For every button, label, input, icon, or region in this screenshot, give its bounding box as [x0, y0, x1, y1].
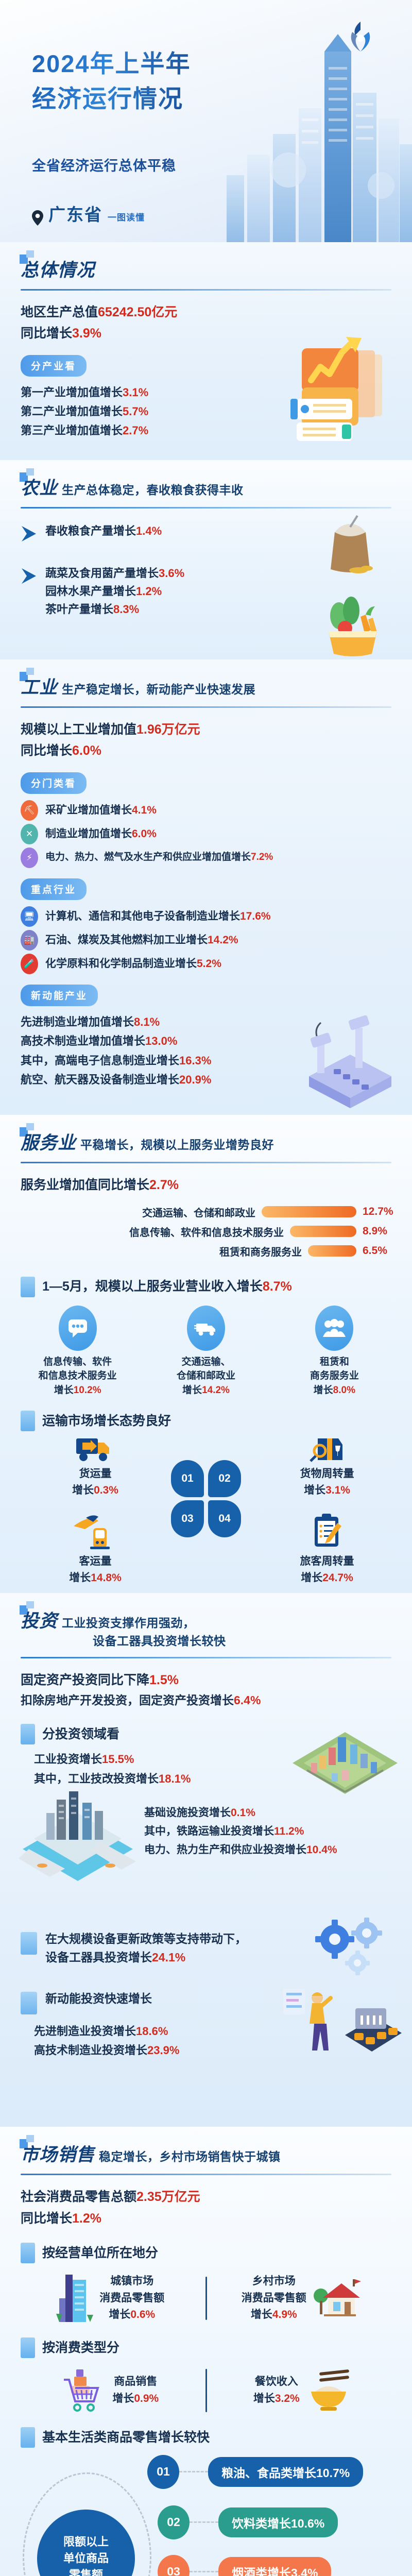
transport-quad: 货运量增长0.3% 货物周转量增长3.1% 01 02 03 04	[0, 1433, 412, 1588]
section-title-retail: 市场销售	[21, 2140, 95, 2166]
clipboard-icon	[307, 1513, 347, 1551]
investment-ex-realestate: 扣除房地产开发投资，固定资产投资增长6.4%	[21, 1691, 391, 1710]
split-title: 城镇市场	[110, 2275, 153, 2287]
statistics-bureau-logo-icon	[346, 21, 375, 53]
section-agriculture: 农业 生产总体稳定，春收粮食获得丰收 春收粮食产量增长1.4%	[0, 460, 412, 660]
delivery-truck-icon	[187, 1306, 225, 1351]
dash-connector	[190, 2571, 218, 2572]
split-item-catering: 餐饮收入 增长3.2%	[207, 2368, 397, 2413]
robot-arm-assembly-icon	[288, 1014, 397, 1112]
flow-badge: 01	[147, 2455, 179, 2489]
bar-value: 6.5%	[363, 1245, 397, 1257]
section-services: 服务业 平稳增长，规模以上服务业增势良好 服务业增加值同比增长2.7% 交通运输…	[0, 1115, 412, 1593]
section-title-overall: 总体情况	[21, 256, 95, 282]
overall-gdp-value: 65242.50亿元	[98, 305, 177, 319]
services-subhead: 1—5月，规模以上服务业营业收入增长8.7%	[0, 1263, 412, 1297]
split-item-rural: 乡村市场 消费品零售额 增长4.9%	[207, 2273, 397, 2324]
lightning-bolt-icon: ⚡	[21, 848, 38, 868]
quad-item-04: 旅客周转量增长24.7%	[263, 1513, 391, 1586]
split-item-urban: 城镇市场 消费品零售额 增长0.6%	[15, 2273, 205, 2324]
flow-caption: 烟酒类增长3.4%	[218, 2557, 331, 2576]
section-subtitle-investment-l1: 工业投资支撑作用强劲，	[62, 1616, 195, 1630]
flow-caption: 饮料类增长10.6%	[218, 2507, 338, 2537]
services-trio: 信息传输、软件和信息技术服务业增长10.2% 交通运输、仓储和邮政业增长14.2…	[0, 1297, 412, 1398]
dash-connector	[179, 2471, 208, 2472]
beaker-icon: 🧪	[21, 954, 38, 974]
section-retail: 市场销售 稳定增长，乡村市场销售快于城镇 社会消费品零售总额2.35万亿元 同比…	[0, 2127, 412, 2576]
chip-marker-icon	[21, 2337, 35, 2358]
list-item: ⛏ 采矿业增加值增长4.1%	[0, 797, 412, 821]
transport-head: 运输市场增长态势良好	[0, 1397, 412, 1431]
growth-chart-folder-icon	[288, 327, 391, 445]
petal-02: 02	[208, 1460, 241, 1497]
retail-location-head: 按经营单位所在地分	[0, 2229, 412, 2263]
split-title: 餐饮收入	[255, 2376, 298, 2387]
retail-by-location: 城镇市场 消费品零售额 增长0.6% 乡村市场 消费品零售额 增长4.9%	[0, 2263, 412, 2324]
chevron-right-icon	[21, 525, 38, 543]
retail-type-head: 按消费类型分	[0, 2324, 412, 2358]
bar-value: 12.7%	[363, 1206, 397, 1218]
flow-caption: 粮油、食品类增长10.7%	[208, 2457, 363, 2487]
chip-marker-icon	[21, 1277, 35, 1297]
chip-marker-icon	[21, 1992, 37, 2014]
trio-item: 信息传输、软件和信息技术服务业增长10.2%	[13, 1306, 142, 1398]
plane-train-icon	[71, 1513, 120, 1551]
industry-key-list: 🖥 计算机、通信和其他电子设备制造业增长17.6% 🏭 石油、煤炭及其他燃料加工…	[0, 903, 412, 974]
village-house-icon	[313, 2275, 362, 2321]
list-item: 其中，铁路运输业投资增长11.2%	[144, 1822, 391, 1841]
section-title-industry: 工业	[21, 673, 58, 699]
chip-marker-icon	[21, 2427, 35, 2448]
split-title: 乡村市场	[252, 2275, 296, 2287]
overall-growth-value: 3.9%	[72, 326, 101, 341]
quad-value: 0.3%	[94, 1484, 118, 1496]
retail-headline: 社会消费品零售总额2.35万亿元	[21, 2187, 391, 2208]
list-item: 蔬菜及食用菌产量增长3.6%	[45, 564, 184, 582]
trio-value: 14.2%	[202, 1385, 230, 1396]
excavator-icon: ⛏	[21, 800, 38, 821]
pill-by-category: 分门类看	[21, 772, 87, 794]
quad-value: 3.1%	[325, 1484, 350, 1496]
monitor-icon: 🖥	[21, 906, 38, 927]
petal-04: 04	[208, 1500, 241, 1537]
section-title-services: 服务业	[21, 1128, 76, 1155]
overall-gdp-line: 地区生产总值65242.50亿元	[21, 302, 391, 323]
bar-label: 交通运输、仓储和邮政业	[142, 1205, 255, 1219]
chart-bar-row: 信息传输、软件和信息技术服务业 8.9%	[15, 1224, 397, 1239]
page-title: 2024年上半年 经济运行情况	[32, 46, 191, 116]
section-subtitle-agriculture: 生产总体稳定，春收粮食获得丰收	[62, 481, 244, 499]
city-skyline-illustration	[196, 15, 412, 242]
refinery-icon: 🏭	[21, 930, 38, 951]
hero-banner: 2024年上半年 经济运行情况 全省经济运行总体平稳 广东省 一图读懂	[0, 0, 412, 242]
flow-item-02: 02 饮料类增长10.6%	[158, 2505, 338, 2539]
investment-fixed: 固定资产投资同比下降1.5%	[21, 1670, 391, 1691]
split-value: 4.9%	[272, 2309, 297, 2320]
bar-fill	[262, 1206, 356, 1217]
industry-category-list: ⛏ 采矿业增加值增长4.1% ✕ 制造业增加值增长6.0% ⚡ 电力、热力、燃气…	[0, 797, 412, 868]
services-bar-chart: 交通运输、仓储和邮政业 12.7% 信息传输、软件和信息技术服务业 8.9% 租…	[0, 1196, 412, 1259]
list-item: 茶叶产量增长8.3%	[45, 600, 184, 618]
bar-fill	[290, 1226, 356, 1237]
chart-bar-row: 租赁和商务服务业 6.5%	[15, 1244, 397, 1259]
city-building-icon	[56, 2273, 93, 2324]
petal-01: 01	[171, 1460, 204, 1497]
split-item-goods: 商品销售 增长0.9%	[15, 2367, 205, 2414]
trio-item: 租赁和商务服务业增长8.0%	[270, 1306, 399, 1398]
page-title-line2: 经济运行情况	[32, 81, 191, 116]
flow-item-01: 01 粮油、食品类增长10.7%	[147, 2455, 363, 2489]
parcel-box-icon	[306, 1433, 348, 1463]
split-value: 3.2%	[275, 2393, 300, 2404]
section-overall: 总体情况 地区生产总值65242.50亿元 同比增长3.9% 分产业看 第一产业…	[0, 242, 412, 460]
chart-bar-row: 交通运输、仓储和邮政业 12.7%	[15, 1205, 397, 1219]
grain-sack-icon	[319, 512, 381, 579]
list-item: 春收粮食产量增长1.4%	[45, 522, 162, 540]
quad-value: 14.8%	[91, 1572, 122, 1584]
split-value: 0.9%	[134, 2393, 159, 2404]
split-value: 0.6%	[130, 2309, 155, 2320]
dash-connector	[190, 2521, 218, 2523]
bar-value: 8.9%	[363, 1225, 397, 1238]
pill-key-industries: 重点行业	[21, 878, 87, 900]
bar-label: 信息传输、软件和信息技术服务业	[129, 1224, 284, 1239]
chip-marker-icon	[21, 1932, 37, 1955]
split-title: 商品销售	[114, 2376, 157, 2387]
overall-growth-label: 同比增长	[21, 326, 72, 341]
section-investment: 投资 工业投资支撑作用强劲， 设备工器具投资增长较快 固定资产投资同比下降1.5…	[0, 1593, 412, 2127]
bar-fill	[308, 1245, 356, 1257]
trio-item: 交通运输、仓储和邮政业增长14.2%	[142, 1306, 270, 1398]
retail-basic-flow: 限额以上单位商品零售额 01 粮油、食品类增长10.7% 02 饮料类增长10.…	[0, 2448, 412, 2576]
list-item: 🖥 计算机、通信和其他电子设备制造业增长17.6%	[0, 903, 412, 927]
section-subtitle-retail: 稳定增长，乡村市场销售快于城镇	[99, 2148, 281, 2166]
location-pin-icon	[32, 210, 43, 226]
page-subtitle: 全省经济运行总体平稳	[32, 155, 176, 175]
chip-marker-icon	[21, 2243, 35, 2263]
list-item: 🧪 化学原料和化学制品制造业增长5.2%	[0, 951, 412, 974]
isometric-skyline-icon	[19, 1788, 137, 1886]
infographic-page: 2024年上半年 经济运行情况 全省经济运行总体平稳 广东省 一图读懂 总体情况…	[0, 0, 412, 2576]
list-item: ✕ 制造业增加值增长6.0%	[0, 821, 412, 844]
chat-bubble-icon	[59, 1306, 97, 1351]
list-item: 基础设施投资增长0.1%	[144, 1804, 391, 1822]
tagline: 一图读懂	[108, 210, 145, 226]
trio-value: 10.2%	[74, 1385, 101, 1396]
retail-by-type: 商品销售 增长0.9% 餐饮收入 增长3.2%	[0, 2358, 412, 2414]
section-subtitle-industry: 生产稳定增长，新动能产业快速发展	[62, 681, 255, 699]
overall-gdp-label: 地区生产总值	[21, 305, 98, 319]
flow-badge: 03	[158, 2555, 190, 2576]
quad-value: 24.7%	[322, 1572, 353, 1584]
quad-center-petals: 01 02 03 04	[171, 1460, 241, 1537]
industry-headline: 规模以上工业增加值1.96万亿元	[21, 719, 391, 740]
flow-badge: 02	[158, 2505, 190, 2539]
petal-03: 03	[171, 1500, 204, 1537]
agriculture-list: 蔬菜及食用菌产量增长3.6% 园林水果产量增长1.2% 茶叶产量增长8.3%	[45, 564, 184, 619]
isometric-city-icon	[288, 1726, 402, 1803]
vegetable-basket-icon	[316, 592, 388, 659]
section-title-investment: 投资	[21, 1606, 58, 1633]
split-sub: 消费品零售额	[99, 2292, 164, 2304]
flow-item-03: 03 烟酒类增长3.4%	[158, 2555, 331, 2576]
worker-production-line-icon	[278, 1986, 402, 2068]
list-item: 园林水果产量增长1.2%	[45, 582, 184, 600]
shopping-cart-icon	[62, 2367, 106, 2414]
list-item: 电力、热力生产和供应业投资增长10.4%	[144, 1841, 391, 1859]
section-title-agriculture: 农业	[21, 473, 58, 500]
pill-by-industry: 分产业看	[21, 355, 87, 377]
wrench-tools-icon: ✕	[21, 824, 38, 844]
bar-label: 租赁和商务服务业	[219, 1244, 302, 1259]
freight-truck-icon	[73, 1433, 117, 1463]
industry-growth: 同比增长6.0%	[21, 740, 391, 761]
section-subtitle-investment-l2: 设备工器具投资增长较快	[93, 1632, 226, 1650]
quad-item-01: 货运量增长0.3%	[31, 1433, 160, 1498]
split-sub: 消费品零售额	[242, 2292, 306, 2304]
chip-marker-icon	[21, 1724, 35, 1744]
section-subtitle-services: 平稳增长，规模以上服务业增势良好	[80, 1136, 274, 1154]
retail-basic-head: 基本生活类商品零售增长较快	[0, 2414, 412, 2448]
services-headline: 服务业增加值同比增长2.7%	[21, 1175, 391, 1196]
trio-value: 8.0%	[333, 1385, 355, 1396]
pill-new-drivers: 新动能产业	[21, 985, 98, 1006]
quad-item-02: 货物周转量增长3.1%	[263, 1433, 391, 1498]
quad-item-03: 客运量增长14.8%	[31, 1513, 160, 1586]
page-title-line1: 2024年上半年	[32, 50, 191, 77]
list-item: ⚡ 电力、热力、燃气及水生产和供应业增加值增长7.2%	[0, 844, 412, 868]
chip-marker-icon	[21, 1411, 35, 1431]
chevron-right-icon	[21, 567, 38, 585]
list-item: 🏭 石油、煤炭及其他燃料加工业增长14.2%	[0, 927, 412, 951]
people-group-icon	[315, 1306, 353, 1351]
section-industry: 工业 生产稳定增长，新动能产业快速发展 规模以上工业增加值1.96万亿元 同比增…	[0, 659, 412, 1115]
province-badge: 广东省 一图读懂	[32, 201, 145, 226]
retail-growth: 同比增长1.2%	[21, 2208, 391, 2229]
province-name: 广东省	[48, 201, 102, 226]
rice-bowl-icon	[306, 2368, 350, 2413]
gears-icon	[304, 1916, 397, 1988]
